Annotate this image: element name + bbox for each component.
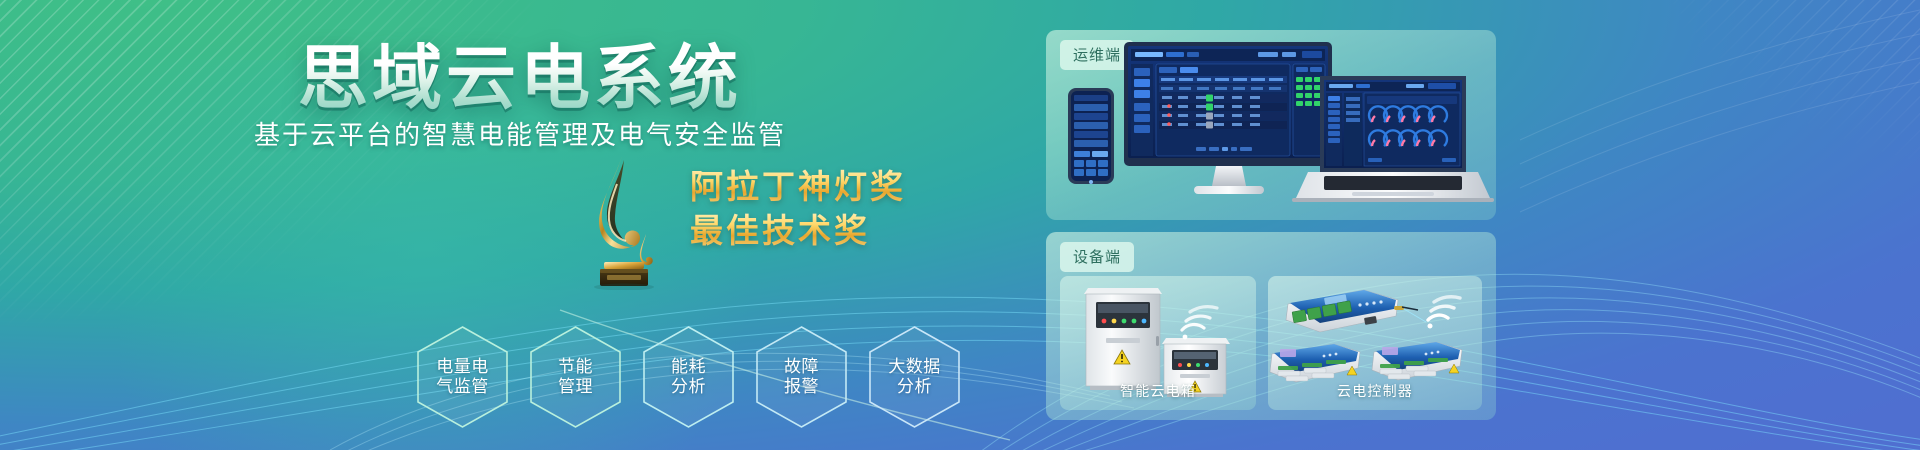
- award-line-1: 阿拉丁神灯奖: [690, 165, 1020, 209]
- feature-label-4-line2: 分析: [897, 377, 932, 396]
- panel-devices: 设备端: [1046, 232, 1496, 420]
- device-card-controller[interactable]: 云电控制器: [1268, 276, 1482, 410]
- desktop-monitor-mockup: [1124, 42, 1332, 194]
- wifi-signal-icon: [1428, 297, 1461, 329]
- page-subtitle: 基于云平台的智慧电能管理及电气安全监管: [0, 115, 1040, 152]
- feature-label-2-line1: 能耗: [671, 357, 706, 376]
- controller-bottom-right: [1372, 342, 1462, 380]
- devices-illustration: [1046, 30, 1496, 220]
- controller-bottom-left: [1270, 344, 1360, 382]
- feature-label-3-line1: 故障: [784, 357, 819, 376]
- feature-label-1-line2: 管理: [558, 377, 593, 396]
- phone-mockup: [1068, 88, 1114, 184]
- feature-label-1-line1: 节能: [558, 357, 593, 376]
- banner-left-content: 思域云电系统 基于云平台的智慧电能管理及电气安全监管: [0, 0, 1040, 450]
- feature-label-3-line2: 报警: [784, 377, 819, 396]
- feature-label-3: 故障 报警: [784, 357, 819, 397]
- feature-hexagon-2[interactable]: 能耗 分析: [641, 325, 736, 429]
- award-text-block: 阿拉丁神灯奖 最佳技术奖: [690, 165, 1020, 252]
- feature-hexagon-row: 电量电 气监管 节能 管理 能耗 分析: [415, 325, 962, 429]
- large-cabinet: [1084, 288, 1162, 390]
- flame-trophy-icon: [560, 150, 680, 290]
- feature-label-0-line1: 电量电: [436, 357, 489, 376]
- panel-tag-devices: 设备端: [1060, 242, 1134, 272]
- feature-hexagon-1[interactable]: 节能 管理: [528, 325, 623, 429]
- feature-hexagon-0[interactable]: 电量电 气监管: [415, 325, 510, 429]
- feature-hexagon-4[interactable]: 大数据 分析: [867, 325, 962, 429]
- device-caption-controller: 云电控制器: [1268, 381, 1482, 401]
- feature-label-1: 节能 管理: [558, 357, 593, 397]
- device-card-cabinet[interactable]: 智能云电箱: [1060, 276, 1256, 410]
- feature-label-0-line2: 气监管: [436, 377, 489, 396]
- feature-label-4: 大数据 分析: [888, 357, 941, 397]
- feature-label-0: 电量电 气监管: [436, 357, 489, 397]
- page-title: 思域云电系统: [0, 22, 1040, 123]
- panel-operations: 运维端: [1046, 30, 1496, 220]
- device-caption-cabinet: 智能云电箱: [1060, 381, 1256, 401]
- feature-label-2: 能耗 分析: [671, 357, 706, 397]
- operations-device-artwork: [1046, 30, 1496, 220]
- wifi-signal-icon: [1182, 307, 1217, 340]
- feature-hexagon-3[interactable]: 故障 报警: [754, 325, 849, 429]
- feature-label-4-line1: 大数据: [888, 357, 941, 376]
- feature-label-2-line2: 分析: [671, 377, 706, 396]
- promo-banner: 思域云电系统 基于云平台的智慧电能管理及电气安全监管: [0, 0, 1920, 450]
- controller-top: [1286, 290, 1418, 332]
- laptop-mockup: [1292, 76, 1494, 202]
- award-line-2: 最佳技术奖: [690, 209, 1020, 253]
